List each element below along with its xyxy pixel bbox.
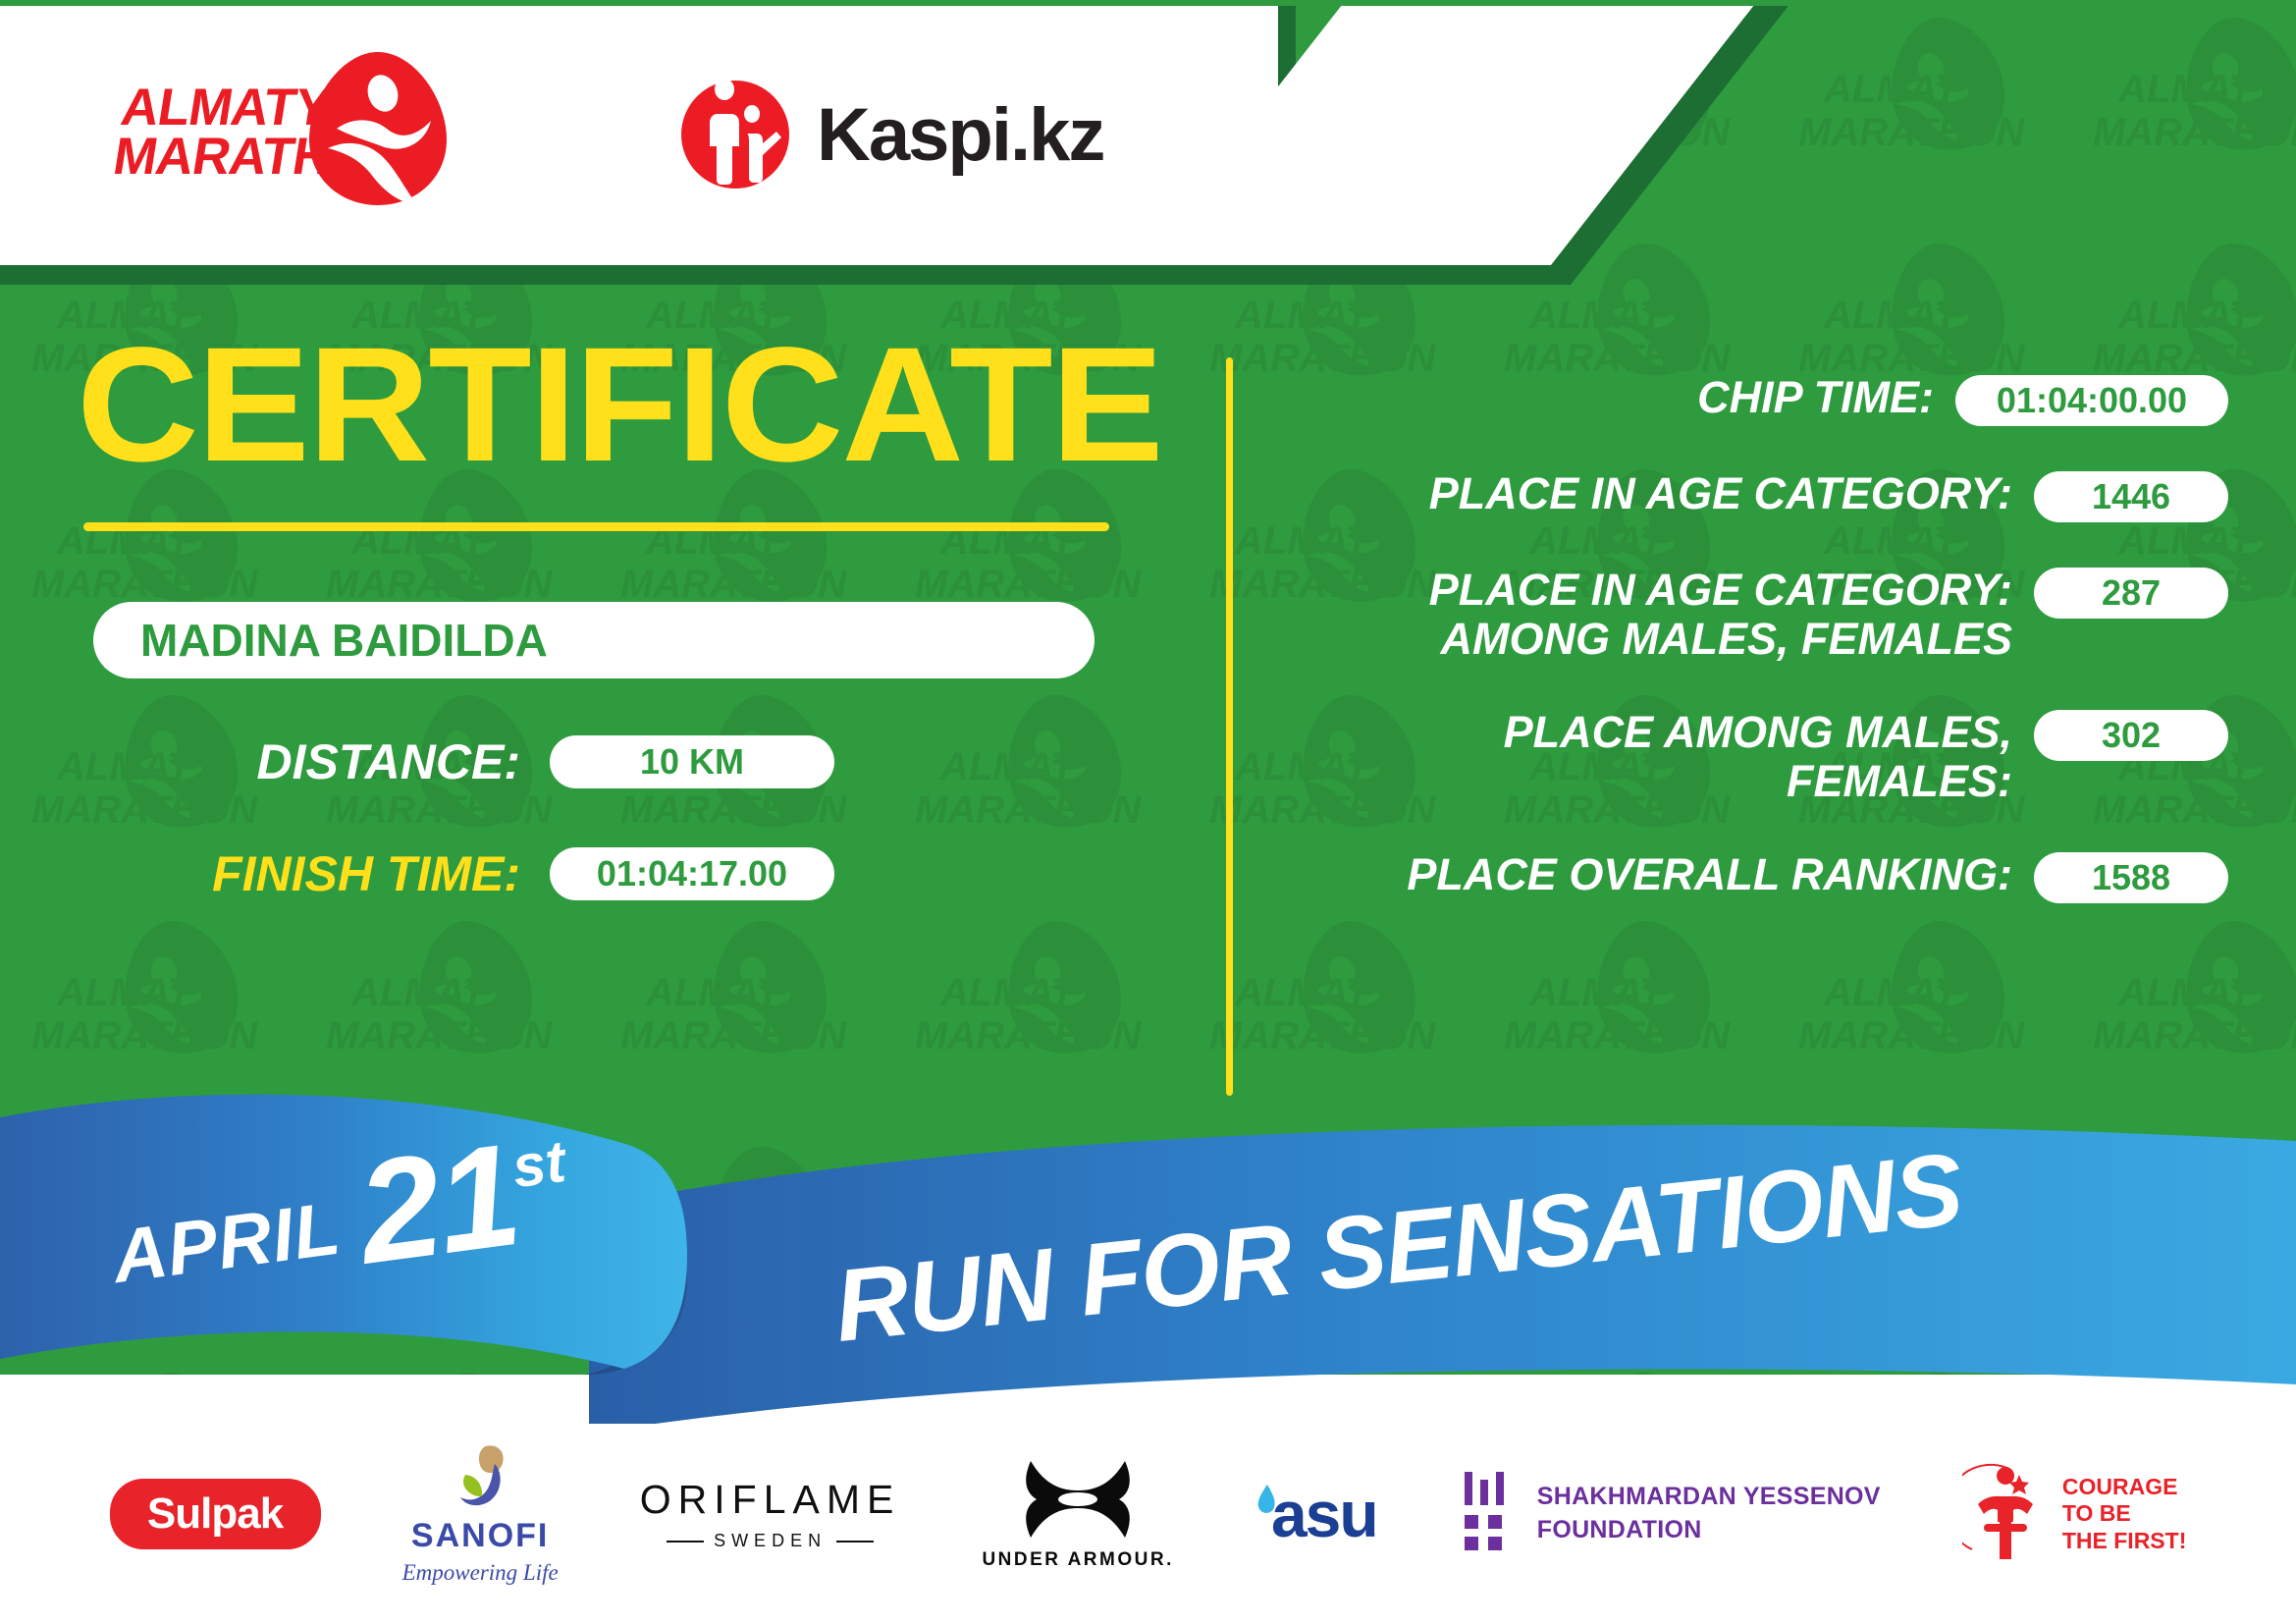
courage-fund-line2: TO BE: [2062, 1500, 2187, 1528]
kaspi-logo: Kaspi.kz: [677, 77, 1103, 192]
distance-value-pill: 10 KM: [550, 735, 834, 788]
stat-row-place-age-category: PLACE IN AGE CATEGORY: 1446: [1286, 469, 2228, 522]
page-title: CERTIFICATE: [77, 324, 1253, 487]
under-armour-logo: [1013, 1457, 1143, 1542]
place-among-gender-label: PLACE AMONG MALES,FEMALES:: [1286, 708, 2034, 807]
sponsor-strip: Sulpak SANOFI Empowering Life ORIFLAME S…: [0, 1426, 2296, 1602]
courage-fund-line3: THE FIRST!: [2062, 1528, 2187, 1555]
left-column: CERTIFICATE MADINA BAIDILDA DISTANCE: 10…: [0, 324, 1207, 902]
sulpak-logo: Sulpak: [110, 1479, 321, 1549]
yessenov-line1: SHAKHMARDAN YESSENOV: [1537, 1481, 1881, 1514]
sponsor-under-armour: UNDER ARMOUR.: [982, 1457, 1173, 1571]
top-accent-strip: [0, 0, 2296, 6]
under-armour-wordmark: UNDER ARMOUR.: [982, 1549, 1173, 1571]
stat-row-place-age-category-gender: PLACE IN AGE CATEGORY:AMONG MALES, FEMAL…: [1286, 566, 2228, 665]
chip-time-value-pill: 01:04:00.00: [1955, 375, 2228, 426]
kaspi-wordmark: Kaspi.kz: [817, 92, 1103, 178]
finish-time-label: FINISH TIME:: [0, 845, 520, 902]
stat-row-place-overall: PLACE OVERALL RANKING: 1588: [1286, 850, 2228, 903]
sponsor-yessenov-foundation: SHAKHMARDAN YESSENOV FOUNDATION: [1459, 1472, 1881, 1556]
chip-time-value: 01:04:00.00: [1997, 380, 2187, 421]
athlete-name-value: MADINA BAIDILDA: [140, 614, 548, 667]
distance-value: 10 KM: [640, 741, 744, 783]
place-age-category-gender-value: 287: [2102, 572, 2161, 614]
sulpak-wordmark: Sulpak: [147, 1489, 283, 1539]
oriflame-sub: SWEDEN: [667, 1531, 874, 1551]
stat-row-place-among-gender: PLACE AMONG MALES,FEMALES: 302: [1286, 708, 2228, 807]
place-age-category-value: 1446: [2092, 476, 2170, 517]
courage-fund-wordmark: COURAGE TO BE THE FIRST!: [2062, 1474, 2187, 1555]
place-overall-label: PLACE OVERALL RANKING:: [1286, 850, 2034, 899]
kaspi-people-icon: [677, 77, 793, 192]
oriflame-country: SWEDEN: [714, 1531, 827, 1551]
sanofi-logo: [444, 1442, 516, 1513]
oriflame-rule-left: [667, 1541, 704, 1543]
finish-time-value-pill: 01:04:17.00: [550, 847, 834, 900]
distance-label: DISTANCE:: [0, 733, 520, 790]
sponsor-sulpak: Sulpak: [110, 1479, 321, 1549]
sponsor-sanofi: SANOFI Empowering Life: [402, 1442, 559, 1586]
courage-fund-line1: COURAGE: [2062, 1474, 2187, 1501]
almaty-marathon-runner-icon: [304, 46, 452, 211]
place-age-category-gender-value-pill: 287: [2034, 568, 2228, 619]
distance-row: DISTANCE: 10 KM: [0, 733, 1207, 790]
yessenov-line2: FOUNDATION: [1537, 1514, 1881, 1547]
place-among-gender-value: 302: [2102, 715, 2161, 756]
place-age-category-label: PLACE IN AGE CATEGORY:: [1286, 469, 2034, 518]
right-column-stats: CHIP TIME: 01:04:00.00 PLACE IN AGE CATE…: [1286, 373, 2228, 947]
almaty-marathon-logo: ALMATY MARATHON: [118, 54, 442, 211]
column-divider: [1226, 357, 1233, 1096]
place-age-category-value-pill: 1446: [2034, 471, 2228, 522]
place-overall-value-pill: 1588: [2034, 852, 2228, 903]
title-underline: [83, 522, 1109, 531]
courage-fund-logo: [1962, 1463, 2053, 1565]
sanofi-tagline: Empowering Life: [402, 1560, 559, 1586]
asu-wordmark: asu: [1271, 1477, 1377, 1551]
finish-time-row: FINISH TIME: 01:04:17.00: [0, 845, 1207, 902]
sponsor-oriflame: ORIFLAME SWEDEN: [640, 1477, 901, 1551]
chip-time-label: CHIP TIME:: [1286, 373, 1955, 422]
place-among-gender-value-pill: 302: [2034, 710, 2228, 761]
oriflame-wordmark: ORIFLAME: [640, 1477, 901, 1523]
event-day: 21: [351, 1128, 525, 1281]
oriflame-rule-right: [836, 1541, 874, 1543]
sponsor-asu: asu: [1255, 1477, 1377, 1551]
yessenov-wordmark: SHAKHMARDAN YESSENOV FOUNDATION: [1537, 1481, 1881, 1547]
sanofi-wordmark: SANOFI: [411, 1517, 549, 1555]
place-overall-value: 1588: [2092, 857, 2170, 898]
finish-time-value: 01:04:17.00: [597, 853, 787, 894]
place-age-category-gender-label: PLACE IN AGE CATEGORY:AMONG MALES, FEMAL…: [1286, 566, 2034, 665]
athlete-name-field: MADINA BAIDILDA: [93, 602, 1095, 678]
event-day-ordinal: st: [508, 1127, 569, 1201]
yessenov-foundation-logo: [1459, 1472, 1520, 1556]
stat-row-chip-time: CHIP TIME: 01:04:00.00: [1286, 373, 2228, 426]
sponsor-courage-fund: COURAGE TO BE THE FIRST!: [1962, 1463, 2187, 1565]
certificate-page: ALMATY MARATHON ALMATY MARATHON: [0, 0, 2296, 1624]
